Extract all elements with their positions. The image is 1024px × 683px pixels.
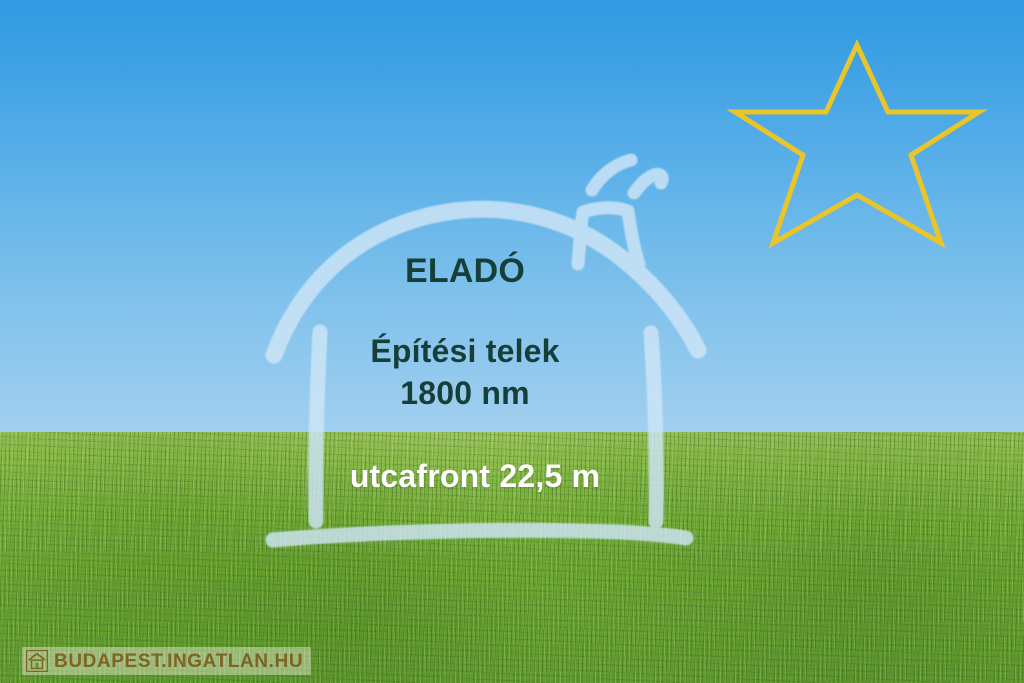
annotation-elado: ELADÓ xyxy=(0,252,930,291)
site-watermark: BUDAPEST.INGATLAN.HU xyxy=(22,647,311,675)
annotation-plot-type: Építési telek xyxy=(0,333,930,370)
watermark-text: BUDAPEST.INGATLAN.HU xyxy=(54,652,303,671)
annotation-plot-area: 1800 nm xyxy=(0,375,930,412)
listing-photo: ELADÓ Építési telek 1800 nm utcafront 22… xyxy=(0,0,1024,683)
annotation-street-frontage: utcafront 22,5 m xyxy=(0,458,950,495)
house-logo-icon xyxy=(26,650,48,672)
sky-background xyxy=(0,0,1024,436)
